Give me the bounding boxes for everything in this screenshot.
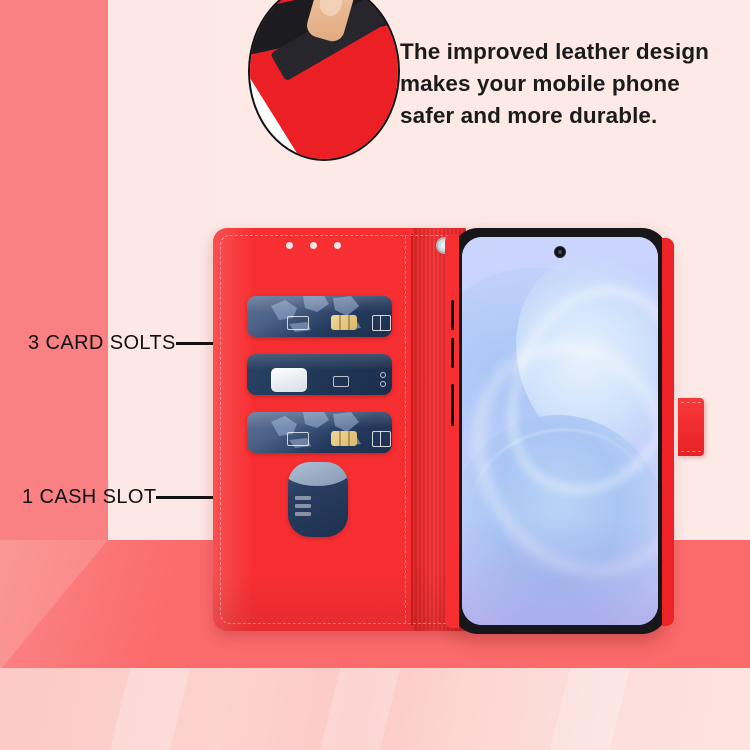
wallet-case: 10 10	[213, 228, 466, 631]
cutout-dot	[310, 242, 317, 249]
card-dot-logo	[378, 372, 388, 388]
card-contactless-icon	[372, 315, 391, 331]
card-small-square	[333, 376, 349, 387]
card-logo-square	[287, 316, 309, 330]
card-chip-icon	[331, 315, 357, 330]
magnetic-closure-tab	[678, 398, 704, 456]
card-gloss	[247, 354, 392, 370]
phone-screen[interactable]	[462, 237, 658, 625]
card-gloss	[247, 296, 392, 312]
cutout-dot	[286, 242, 293, 249]
card-slot-1	[247, 296, 392, 337]
card-gloss	[247, 412, 392, 428]
card-chip-icon	[331, 431, 357, 446]
wallet-fold-stitching	[405, 236, 406, 623]
card-contactless-icon	[372, 431, 391, 447]
volume-down-button[interactable]	[451, 338, 454, 368]
cash-slot-highlight	[288, 462, 348, 486]
tab-stitch-bottom	[681, 451, 701, 452]
tab-stitch-top	[681, 402, 701, 403]
callout-card-slots-label: 3 CARD SOLTS	[28, 332, 176, 355]
volume-up-button[interactable]	[451, 300, 454, 330]
background-band-left	[0, 0, 108, 566]
front-camera-icon	[554, 246, 566, 258]
cash-slot-pocket	[288, 462, 348, 537]
card-white-label	[271, 368, 307, 392]
product-infographic: The improved leather design makes your m…	[0, 0, 750, 750]
card-slot-2	[247, 354, 392, 395]
card-logo-square	[287, 432, 309, 446]
camera-cutout-dots	[286, 242, 341, 249]
cutout-dot	[334, 242, 341, 249]
headline-text: The improved leather design makes your m…	[400, 36, 740, 132]
power-button[interactable]	[451, 384, 454, 426]
case-left-edge	[445, 234, 459, 628]
smartphone	[452, 228, 668, 634]
wallet-fold-crease	[411, 234, 413, 625]
card-slot-3	[247, 412, 392, 453]
background-band-middle	[108, 0, 218, 566]
callout-cash-slot-label: 1 CASH SLOT	[22, 486, 156, 509]
cash-slot-stripes	[295, 496, 311, 520]
case-right-edge	[662, 238, 674, 626]
